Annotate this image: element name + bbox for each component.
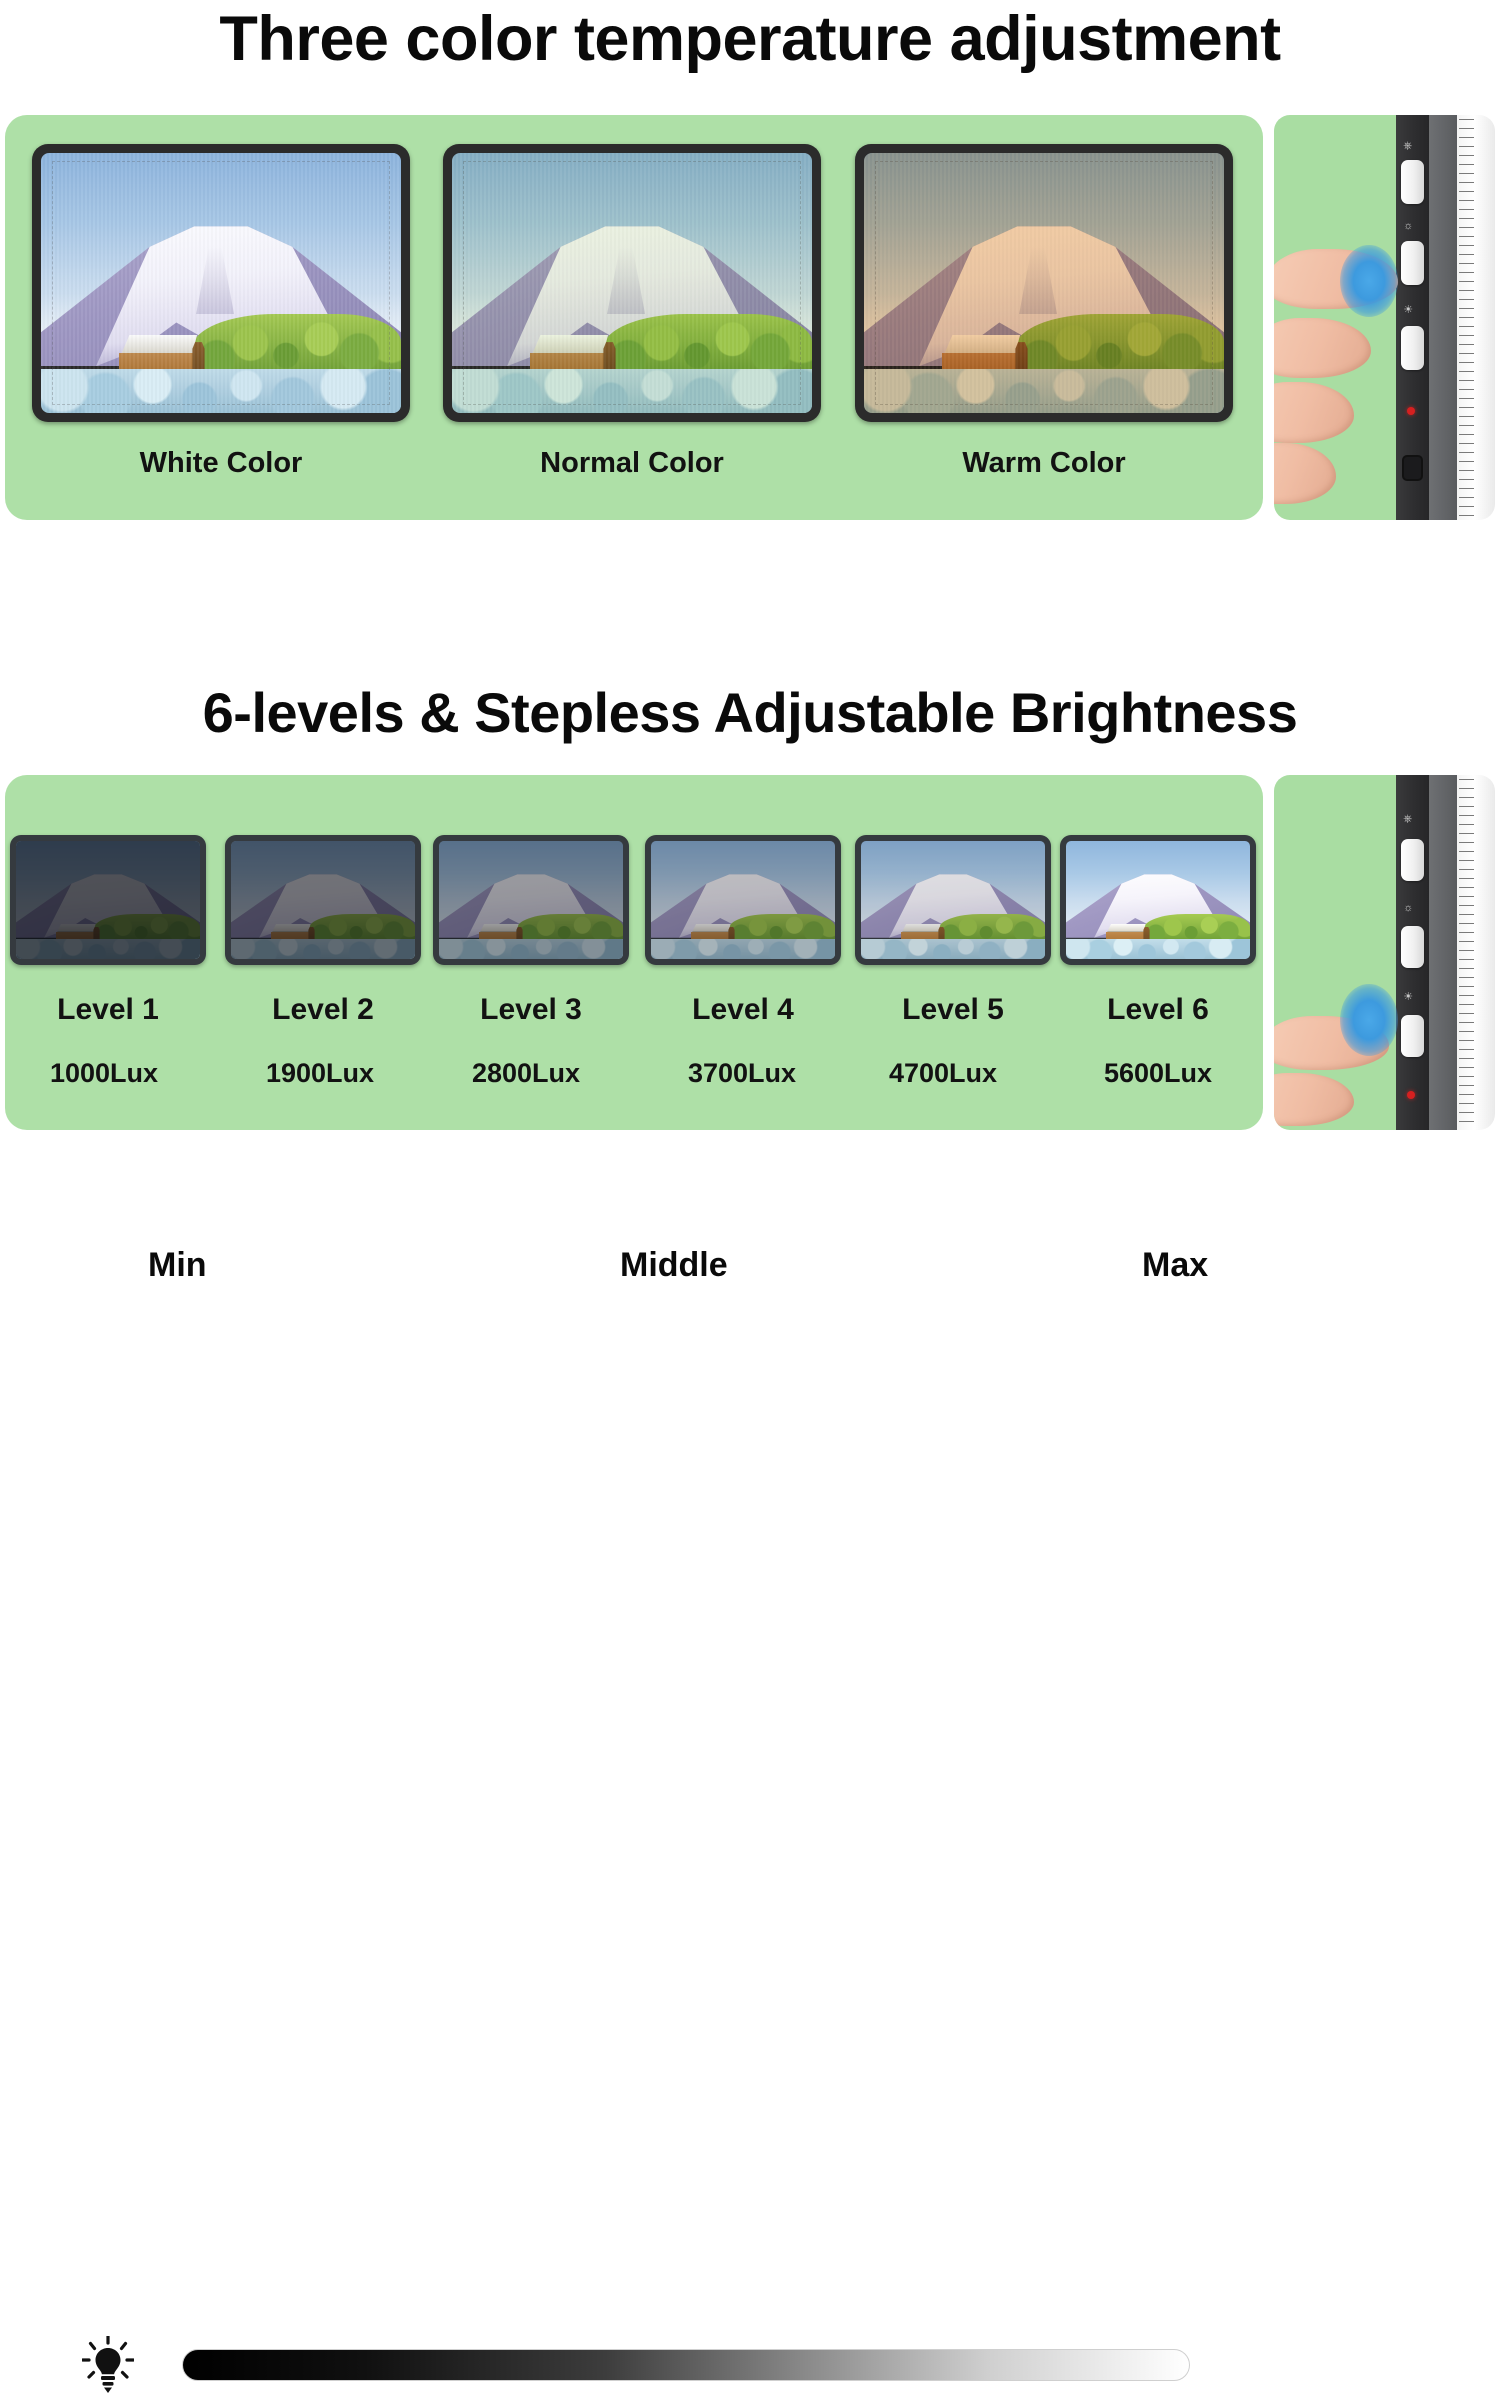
tablet-screen — [41, 153, 401, 413]
brightness-thumb-3 — [433, 835, 629, 965]
fuji-artwork — [452, 153, 812, 413]
roof — [528, 335, 608, 354]
device-back-panel — [1429, 115, 1458, 520]
fuji-artwork — [41, 153, 401, 413]
brightness-up-icon: ☼ — [1403, 221, 1413, 232]
tree-line — [192, 314, 401, 376]
lux-label-5: 4700Lux — [845, 1058, 1041, 1089]
brightness-thumb-4 — [645, 835, 841, 965]
color-label-normal: Normal Color — [443, 447, 821, 480]
flower-field — [16, 939, 200, 959]
lux-label-4: 3700Lux — [644, 1058, 840, 1089]
tablet-screen — [864, 153, 1224, 413]
tablet-screen — [452, 153, 812, 413]
brightness-thumb-1 — [10, 835, 206, 965]
level-label-1: Level 1 — [10, 993, 206, 1027]
tablet-screen — [439, 841, 623, 959]
flower-field — [41, 369, 401, 413]
level-label-4: Level 4 — [645, 993, 841, 1027]
level-label-5: Level 5 — [855, 993, 1051, 1027]
level-label-3: Level 3 — [433, 993, 629, 1027]
tree-line — [603, 314, 812, 376]
power-icon: ⎈ — [1403, 141, 1412, 152]
slider-label-max: Max — [1142, 1246, 1208, 1285]
level-label-6: Level 6 — [1060, 993, 1256, 1027]
brightness-slider-track[interactable] — [182, 2349, 1190, 2381]
flower-field — [231, 939, 415, 959]
color-label-warm: Warm Color — [855, 447, 1233, 480]
ruler-scale — [1457, 115, 1495, 520]
device-photo-brightness: ⎈ ☼ ☀ — [1274, 775, 1495, 1130]
brightness-up-icon: ☼ — [1403, 903, 1413, 914]
color-preview-normal — [443, 144, 821, 422]
tablet-screen — [231, 841, 415, 959]
lux-label-3: 2800Lux — [428, 1058, 624, 1089]
lux-label-2: 1900Lux — [222, 1058, 418, 1089]
tree-line — [1015, 314, 1224, 376]
brightness-thumb-2 — [225, 835, 421, 965]
flower-field — [1066, 939, 1250, 959]
tablet-screen — [16, 841, 200, 959]
usb-c-port-icon — [1402, 455, 1423, 481]
brightness-thumb-5 — [855, 835, 1051, 965]
ruler-ticks — [1459, 779, 1474, 1127]
flower-field — [861, 939, 1045, 959]
brightness-slider-row — [0, 1160, 1500, 1292]
fuji-artwork — [439, 841, 623, 959]
flower-field — [651, 939, 835, 959]
fuji-artwork — [1066, 841, 1250, 959]
brightness-down-button[interactable] — [1401, 326, 1424, 371]
level-label-2: Level 2 — [225, 993, 421, 1027]
tablet-screen — [651, 841, 835, 959]
fuji-artwork — [16, 841, 200, 959]
ruler-scale — [1457, 775, 1495, 1130]
fuji-artwork — [861, 841, 1045, 959]
flower-field — [864, 369, 1224, 413]
device-photo-color: ⎈ ☼ ☀ — [1274, 115, 1495, 520]
lux-label-1: 1000Lux — [6, 1058, 202, 1089]
device-back-panel — [1429, 775, 1458, 1130]
roof — [117, 335, 197, 354]
fuji-artwork — [651, 841, 835, 959]
brightness-up-button[interactable] — [1401, 241, 1424, 286]
led-indicator — [1407, 407, 1415, 415]
slider-label-middle: Middle — [620, 1246, 728, 1285]
lux-label-6: 5600Lux — [1060, 1058, 1256, 1089]
brightness-up-button[interactable] — [1401, 926, 1424, 969]
roof — [940, 335, 1020, 354]
flower-field — [452, 369, 812, 413]
brightness-title: 6-levels & Stepless Adjustable Brightnes… — [0, 678, 1500, 748]
tablet-screen — [861, 841, 1045, 959]
brightness-down-icon: ☀ — [1403, 992, 1413, 1003]
led-indicator — [1407, 1091, 1415, 1099]
fuji-artwork — [864, 153, 1224, 413]
tablet-screen — [1066, 841, 1250, 959]
power-button[interactable] — [1401, 839, 1424, 882]
brightness-down-icon: ☀ — [1403, 305, 1413, 316]
brightness-down-button[interactable] — [1401, 1015, 1424, 1058]
fuji-artwork — [231, 841, 415, 959]
brightness-thumb-6 — [1060, 835, 1256, 965]
color-label-white: White Color — [32, 447, 410, 480]
slider-label-min: Min — [148, 1246, 207, 1285]
ruler-ticks — [1459, 119, 1474, 516]
lightbulb-icon — [82, 2336, 134, 2394]
power-button[interactable] — [1401, 160, 1424, 205]
power-icon: ⎈ — [1403, 814, 1412, 825]
color-temperature-title: Three color temperature adjustment — [0, 0, 1500, 78]
touch-glow-icon — [1340, 245, 1398, 317]
color-preview-warm — [855, 144, 1233, 422]
flower-field — [439, 939, 623, 959]
color-preview-white — [32, 144, 410, 422]
